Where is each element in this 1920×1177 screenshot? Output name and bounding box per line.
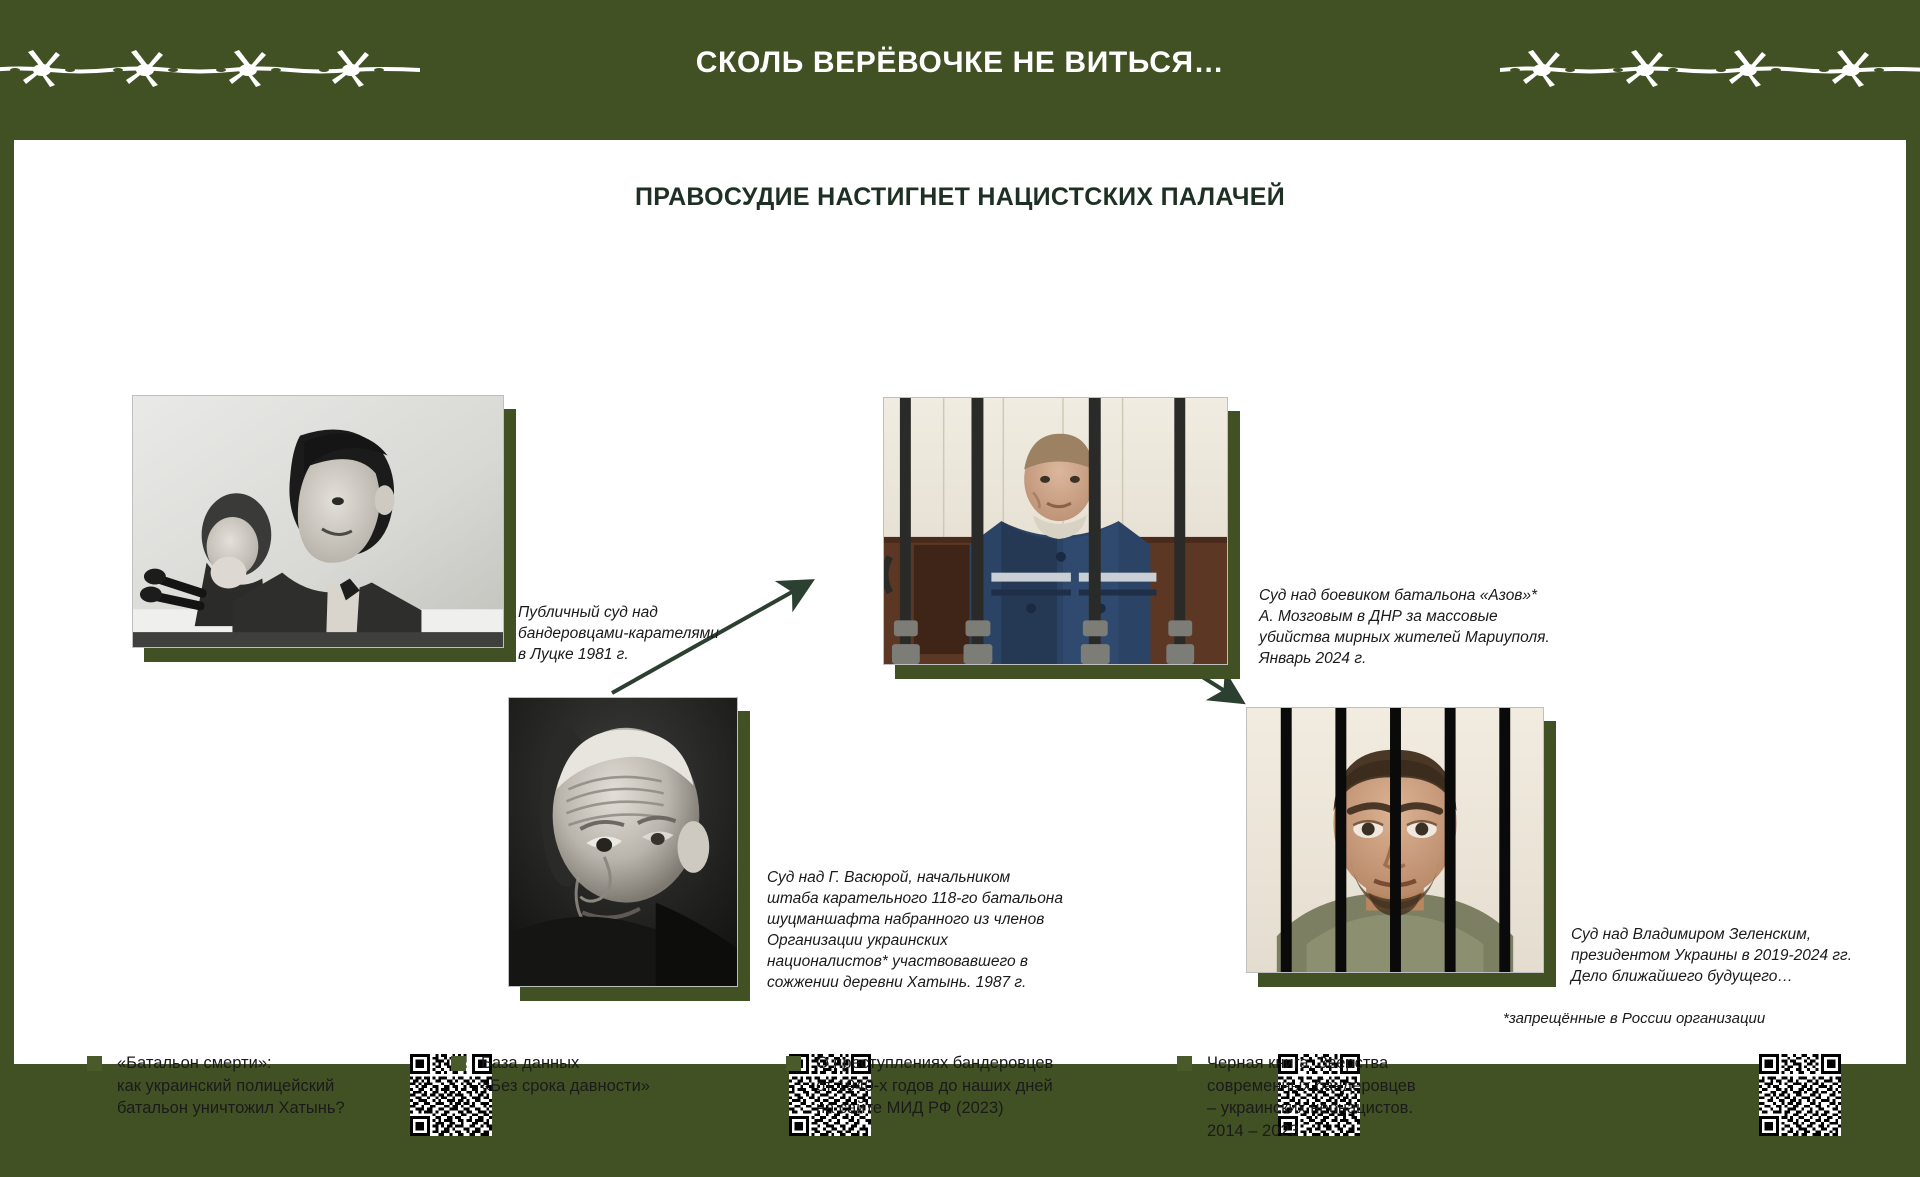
photo-card-zelensky[interactable] [1246,707,1544,973]
photo-lutsk-1981 [133,396,503,647]
qr-link-item[interactable]: База данных «Без срока давности» [451,1052,721,1097]
photo-vasyura-1987 [509,698,737,986]
square-bullet-icon [786,1056,801,1071]
header-title: СКОЛЬ ВЕРЁВОЧКЕ НЕ ВИТЬСЯ… [0,46,1920,80]
photo-card-vasyura[interactable] [508,697,738,987]
square-bullet-icon [87,1056,102,1071]
photo-frame [132,395,504,648]
qr-link-item[interactable]: «Батальон смерти»: как украинский полице… [87,1052,407,1120]
square-bullet-icon [1177,1056,1192,1071]
caption-vasyura: Суд над Г. Васюрой, начальником штаба ка… [767,867,1067,993]
photo-frame [1246,707,1544,973]
qr-link-label: «Батальон смерти»: как украинский полице… [117,1052,345,1120]
qr-link-item[interactable]: Черная книга. Зверства современных банде… [1177,1052,1497,1142]
photo-card-lutsk[interactable] [132,395,504,648]
photo-zelensky [1247,708,1543,972]
qr-link-label: База данных «Без срока давности» [481,1052,650,1097]
page-header: СКОЛЬ ВЕРЁВОЧКЕ НЕ ВИТЬСЯ… [0,0,1920,136]
qr-link-label: О преступлениях бандеровцев от 1940-х го… [816,1052,1053,1120]
caption-mozgovoy: Суд над боевиком батальона «Азов»* А. Мо… [1259,585,1609,669]
qr-links-row: «Батальон смерти»: как украинский полице… [14,1052,1906,1177]
qr-code-icon[interactable] [1759,1054,1841,1136]
caption-lutsk: Публичный суд над бандеровцами-карателям… [518,602,768,665]
square-bullet-icon [451,1056,466,1071]
qr-link-item[interactable]: О преступлениях бандеровцев от 1940-х го… [786,1052,1106,1120]
slide-canvas: ПРАВОСУДИЕ НАСТИГНЕТ НАЦИСТСКИХ ПАЛАЧЕЙ [14,140,1906,1064]
photo-card-mozgovoy[interactable] [883,397,1228,665]
photo-mozgovoy-dnr [884,398,1227,664]
qr-link-label: Черная книга. Зверства современных банде… [1207,1052,1416,1142]
page-title: ПРАВОСУДИЕ НАСТИГНЕТ НАЦИСТСКИХ ПАЛАЧЕЙ [14,183,1906,212]
footnote-banned-orgs: *запрещённые в России организации [1503,1010,1765,1027]
caption-zelensky: Суд над Владимиром Зеленским, президенто… [1571,924,1891,987]
photo-frame [508,697,738,987]
photo-frame [883,397,1228,665]
